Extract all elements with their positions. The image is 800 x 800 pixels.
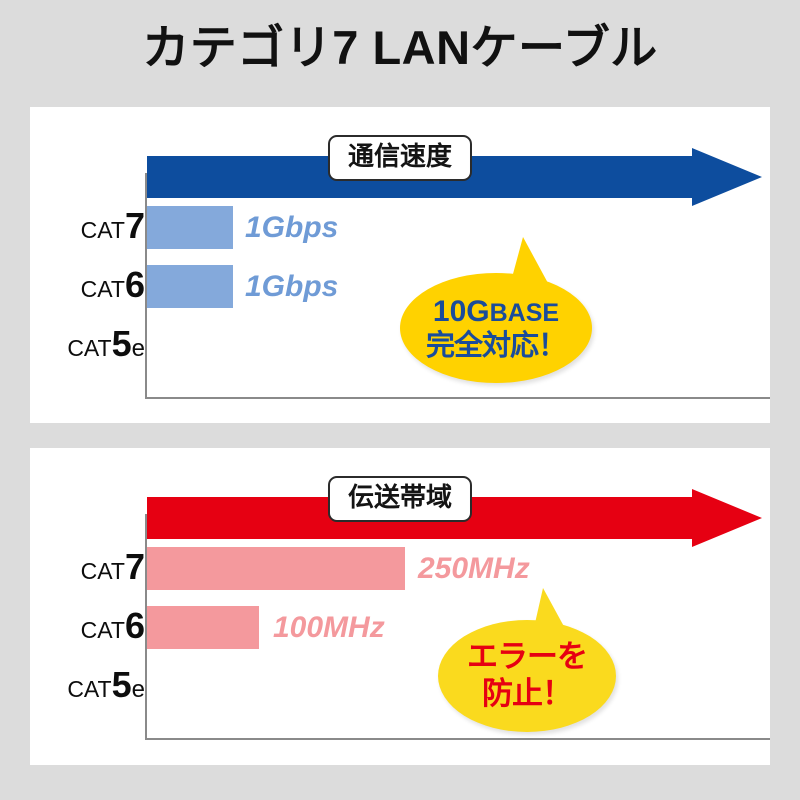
bar-value-cat6-speed: 1Gbps [245,206,338,249]
callout-tail [533,588,567,632]
cat-prefix: CAT [81,617,125,643]
x-axis-line [145,397,770,399]
cat-number: 6 [125,264,145,305]
bar-value-cat6-bandwidth: 250MHz [418,547,530,590]
category-label-cat6: CAT6 [45,267,145,303]
chart-panel-transmission-bandwidth: 伝送帯域 CAT7 CAT6 CAT5e 600MHz 250MHz 100MH… [30,448,770,765]
callout-sub: BASE [490,299,559,327]
category-labels: CAT7 CAT6 CAT5e [40,448,145,765]
callout-line-1: エラーを [467,639,587,674]
cat-suffix: e [132,335,145,362]
callout-error-prevention: エラーを 防止！ [438,620,616,732]
category-label-cat6: CAT6 [45,608,145,644]
category-label-cat5e: CAT5e [45,667,145,703]
category-label-cat7: CAT7 [45,208,145,244]
chart-title-communication-speed: 通信速度 [328,135,472,181]
bar-cat5e-speed [147,265,233,308]
chart-title-transmission-bandwidth: 伝送帯域 [328,476,472,522]
cat-number: 6 [125,605,145,646]
callout-line-1: 10GBASE [433,295,559,328]
bar-value-cat5e-speed: 1Gbps [245,265,338,308]
bar-cat6-speed [147,206,233,249]
cat-prefix: CAT [81,217,125,243]
cat-prefix: CAT [81,558,125,584]
cat-number: 7 [125,205,145,246]
callout-text: 10GBASE 完全対応！ [400,296,592,361]
callout-line-2: 防止！ [438,678,616,711]
callout-text: エラーを 防止！ [438,641,616,710]
callout-tail [510,237,549,285]
product-infographic: カテゴリ7 LANケーブル 通信速度 CAT7 CAT6 CAT5e 10Gbp… [0,0,800,800]
cat-number: 5 [112,323,132,364]
bar-value-cat5e-bandwidth: 100MHz [273,606,385,649]
x-axis-line [145,738,770,740]
cat-suffix: e [132,676,145,703]
cat-prefix: CAT [81,276,125,302]
bar-cat5e-bandwidth [147,606,259,649]
bar-chart-transmission-bandwidth: 伝送帯域 CAT7 CAT6 CAT5e 600MHz 250MHz 100MH… [30,448,770,765]
category-labels: CAT7 CAT6 CAT5e [40,107,145,423]
page-title: カテゴリ7 LANケーブル [0,22,800,74]
category-label-cat5e: CAT5e [45,326,145,362]
category-label-cat7: CAT7 [45,549,145,585]
cat-number: 5 [112,664,132,705]
cat-prefix: CAT [67,676,111,702]
callout-line-2: 完全対応！ [400,331,592,361]
cat-number: 7 [125,546,145,587]
callout-main: 10G [433,295,490,328]
bar-cat6-bandwidth [147,547,405,590]
callout-10gbase: 10GBASE 完全対応！ [400,273,592,383]
value-unit: MHz [477,466,528,494]
cat-prefix: CAT [67,335,111,361]
value-unit: Gbps [493,125,557,153]
